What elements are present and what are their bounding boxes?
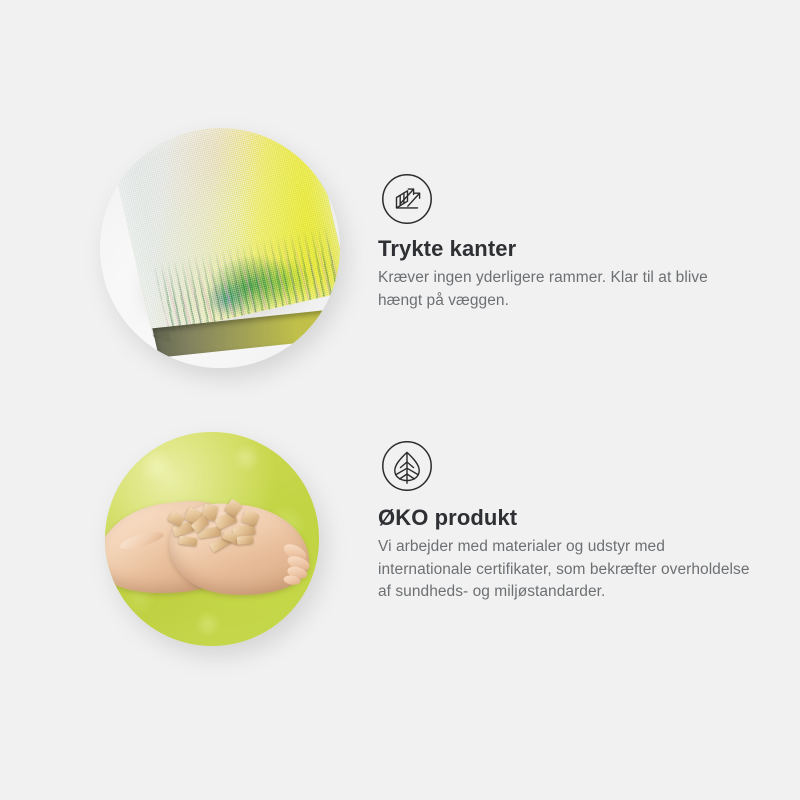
- wood-chip: [237, 535, 254, 545]
- wood-chip-pile: [169, 496, 272, 560]
- feature-text-eco-product: ØKO produkt Vi arbejder med materialer o…: [378, 505, 750, 604]
- eco-photo-background: [105, 432, 319, 646]
- feature-block-printed-edges: Trykte kanter Kræver ingen yderligere ra…: [0, 118, 800, 388]
- printed-edges-icon: [381, 173, 433, 225]
- feature-image-printed-edges: [100, 128, 340, 368]
- feature-block-eco-product: ØKO produkt Vi arbejder med materialer o…: [0, 420, 800, 670]
- leaf-icon: [381, 440, 433, 492]
- feature-title: ØKO produkt: [378, 505, 750, 531]
- wood-chip: [242, 509, 260, 525]
- wood-chips-photo: [105, 432, 319, 646]
- thumb: [119, 528, 165, 552]
- feature-title: Trykte kanter: [378, 236, 750, 262]
- canvas-corner-photo: [100, 128, 340, 368]
- feature-text-printed-edges: Trykte kanter Kræver ingen yderligere ra…: [378, 236, 750, 312]
- canvas-photo-backdrop: [100, 128, 340, 368]
- feature-image-eco-product: [105, 432, 319, 646]
- wood-chip: [179, 536, 198, 547]
- feature-description: Vi arbejder med materialer og udstyr med…: [378, 536, 750, 603]
- feature-description: Kræver ingen yderligere rammer. Klar til…: [378, 267, 750, 312]
- feature-page: Trykte kanter Kræver ingen yderligere ra…: [0, 0, 800, 800]
